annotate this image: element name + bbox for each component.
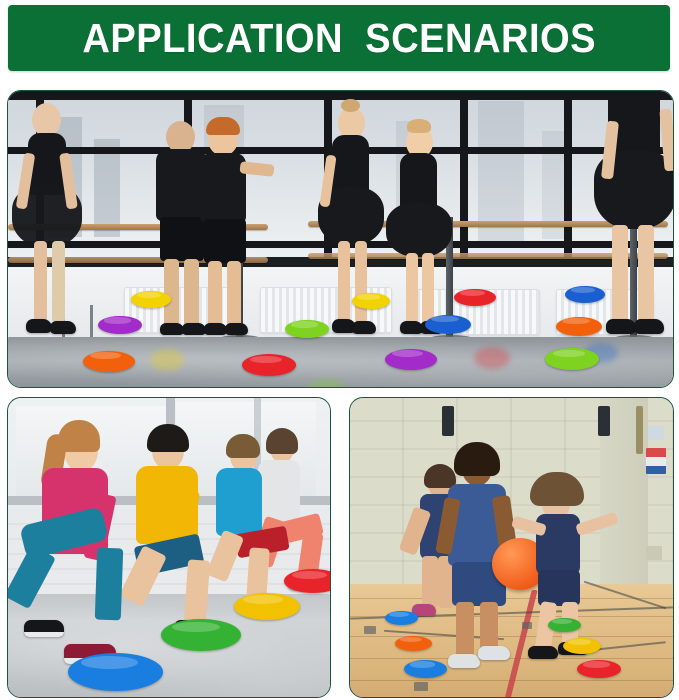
- floor-spot-marker: [352, 293, 390, 309]
- floor-spot-marker: [545, 348, 599, 370]
- window-mullion: [460, 91, 468, 263]
- wall-pole: [636, 406, 643, 454]
- floor-spot-marker: [404, 660, 447, 678]
- floor-spot-marker: [161, 619, 241, 651]
- floor-spot-marker: [563, 638, 601, 654]
- wall-vent: [646, 546, 662, 560]
- page-title: APPLICATION SCENARIOS: [82, 18, 596, 59]
- dance-studio-scene: [8, 91, 673, 387]
- floor-spot-marker: [395, 636, 432, 651]
- floor-spot-marker: [285, 320, 329, 338]
- dance-studio-photo: [7, 90, 674, 388]
- lunge-exercise-photo: [7, 397, 331, 698]
- floor-spot-marker: [242, 354, 296, 376]
- city-building: [478, 101, 524, 241]
- floor-spot-marker: [385, 611, 418, 625]
- floor-spot-marker: [234, 593, 300, 620]
- floor-spot-marker: [577, 660, 621, 678]
- floor-marker: [414, 682, 428, 691]
- floor-spot-marker: [385, 349, 437, 370]
- floor-marker: [522, 622, 532, 629]
- floor-spot-marker: [425, 315, 471, 334]
- wall-sign: [648, 426, 664, 440]
- floor-spot-marker: [83, 351, 135, 372]
- ceiling-beam: [598, 406, 610, 436]
- product-listing-image: APPLICATION SCENARIOS: [0, 0, 679, 700]
- spot-reflection: [474, 347, 510, 369]
- lunge-exercise-scene: [8, 398, 330, 697]
- window-mullion: [8, 91, 673, 100]
- floor-marker: [364, 626, 376, 634]
- floor-spot-marker: [131, 291, 171, 308]
- floor-spot-marker: [454, 289, 496, 306]
- floor-spot-marker: [68, 653, 163, 691]
- floor-spot-marker: [556, 317, 602, 336]
- application-scenarios-banner: APPLICATION SCENARIOS: [8, 5, 670, 71]
- gym-ball-game-photo: [349, 397, 674, 698]
- wall-poster: [646, 448, 666, 474]
- gym-ball-game-scene: [350, 398, 673, 697]
- floor-spot-marker: [565, 286, 605, 303]
- ceiling-beam: [442, 406, 454, 436]
- floor-spot-marker: [98, 316, 142, 334]
- floor-spot-marker: [548, 618, 581, 632]
- window-mullion: [564, 91, 572, 263]
- spot-reflection: [150, 349, 184, 371]
